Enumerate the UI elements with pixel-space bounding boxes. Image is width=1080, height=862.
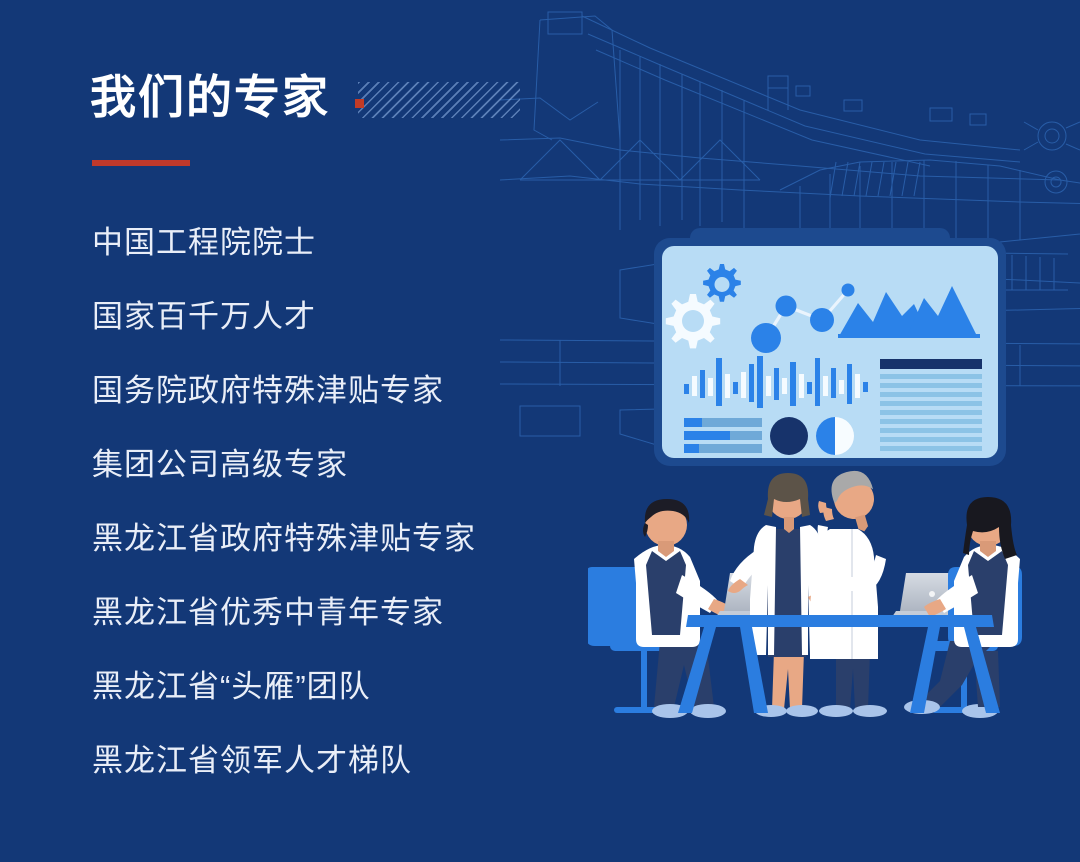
list-item: 黑龙江省“头雁”团队 — [92, 650, 612, 724]
list-item: 黑龙江省领军人才梯队 — [92, 724, 612, 798]
page-title: 我们的专家 — [90, 68, 330, 126]
hatch-decoration — [358, 82, 520, 118]
poster-canvas: 我们的专家 中国工程院院士 国家百千万人才 国务院政府特殊津贴专家 集团公司高级… — [0, 0, 1080, 862]
red-square-marker-icon — [355, 99, 364, 108]
list-item: 国家百千万人才 — [92, 280, 612, 354]
list-item: 黑龙江省政府特殊津贴专家 — [92, 502, 612, 576]
list-item: 国务院政府特殊津贴专家 — [92, 354, 612, 428]
title-underline — [92, 160, 190, 166]
experts-meeting-scene — [588, 455, 1080, 750]
card-surface — [662, 246, 998, 458]
list-item: 黑龙江省优秀中青年专家 — [92, 576, 612, 650]
list-item: 集团公司高级专家 — [92, 428, 612, 502]
analytics-dashboard-card — [650, 228, 1010, 468]
credential-list: 中国工程院院士 国家百千万人才 国务院政府特殊津贴专家 集团公司高级专家 黑龙江… — [92, 206, 612, 798]
list-item: 中国工程院院士 — [92, 206, 612, 280]
